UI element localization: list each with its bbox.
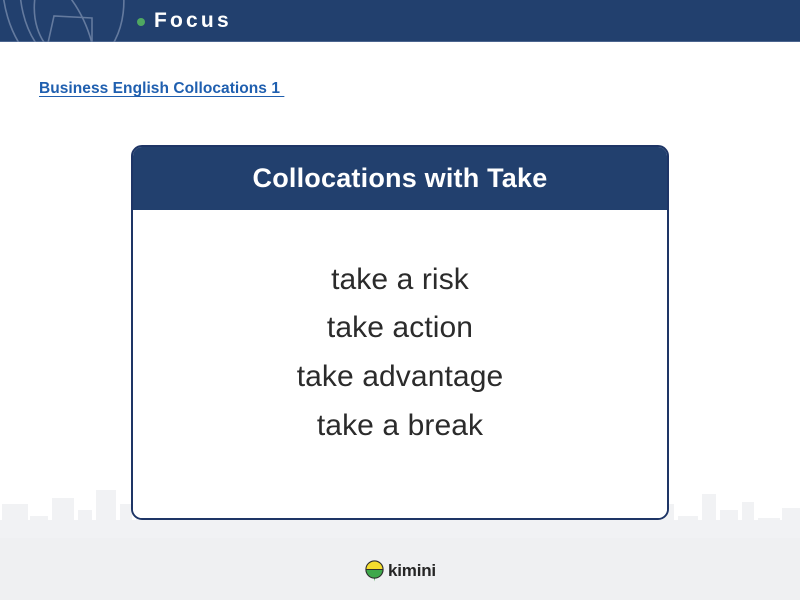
abstract-leaf-lineart-icon (0, 0, 144, 42)
list-item: take advantage (297, 353, 504, 402)
topic-link[interactable]: Business English Collocations 1 (39, 80, 284, 98)
list-item: take a break (317, 402, 483, 451)
card-body: take a risk take action take advantage t… (133, 210, 667, 518)
header-bottom-edge (0, 41, 800, 42)
green-dot-icon (137, 18, 145, 26)
page-title: Focus (154, 9, 232, 33)
page-header: Focus (0, 0, 800, 42)
kimini-logo-text: kimini (388, 561, 436, 581)
collocations-card: Collocations with Take take a risk take … (131, 145, 669, 520)
card-header: Collocations with Take (133, 147, 667, 210)
kimini-balloon-icon (364, 560, 385, 582)
kimini-logo: kimini (364, 560, 436, 582)
list-item: take action (327, 304, 473, 353)
card-title: Collocations with Take (253, 163, 548, 194)
header-title-group: Focus (137, 0, 232, 42)
page-footer: kimini (0, 538, 800, 600)
list-item: take a risk (331, 256, 469, 305)
